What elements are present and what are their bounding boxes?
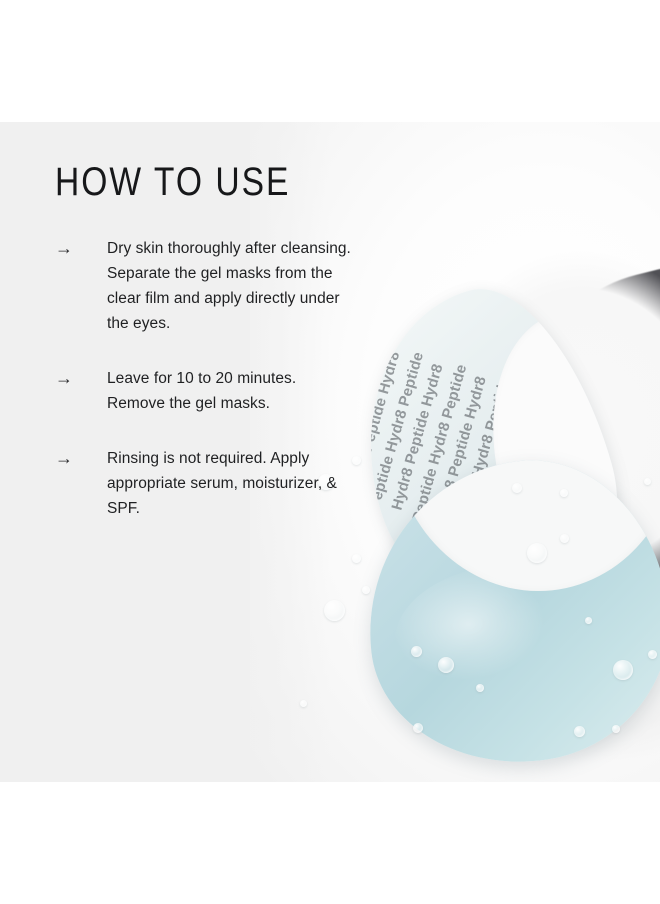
water-droplet — [362, 586, 370, 594]
water-droplet — [413, 723, 423, 733]
water-droplet — [644, 478, 651, 485]
water-droplet — [438, 657, 454, 673]
instructions-column: HOW TO USE → Dry skin thoroughly after c… — [55, 162, 355, 521]
step-text-3: Rinsing is not required. Apply appropria… — [107, 446, 355, 521]
step-item-2: → Leave for 10 to 20 minutes. Remove the… — [55, 366, 355, 416]
page-title: HOW TO USE — [55, 162, 307, 202]
arrow-right-icon: → — [55, 366, 107, 391]
water-droplet — [512, 483, 522, 493]
water-droplet — [300, 700, 307, 707]
arrow-right-icon: → — [55, 236, 107, 261]
step-text-1: Dry skin thoroughly after cleansing. Sep… — [107, 236, 355, 336]
water-droplet — [560, 489, 568, 497]
arrow-right-icon: → — [55, 446, 107, 471]
water-droplet — [613, 660, 633, 680]
water-droplet — [527, 543, 547, 563]
water-droplet — [352, 554, 361, 563]
water-droplet — [574, 726, 585, 737]
water-droplet — [476, 684, 484, 692]
water-droplet — [324, 600, 345, 621]
water-droplet — [585, 617, 592, 624]
water-droplet — [612, 725, 620, 733]
image-canvas: Hydr8 Peptide Hydr8 Peptide Hydr8 Peptid… — [0, 0, 660, 904]
water-droplet — [560, 534, 569, 543]
how-to-use-panel: Hydr8 Peptide Hydr8 Peptide Hydr8 Peptid… — [0, 122, 660, 782]
water-droplet — [648, 650, 657, 659]
water-droplet — [411, 646, 422, 657]
step-item-3: → Rinsing is not required. Apply appropr… — [55, 446, 355, 521]
step-text-2: Leave for 10 to 20 minutes. Remove the g… — [107, 366, 355, 416]
step-item-1: → Dry skin thoroughly after cleansing. S… — [55, 236, 355, 336]
